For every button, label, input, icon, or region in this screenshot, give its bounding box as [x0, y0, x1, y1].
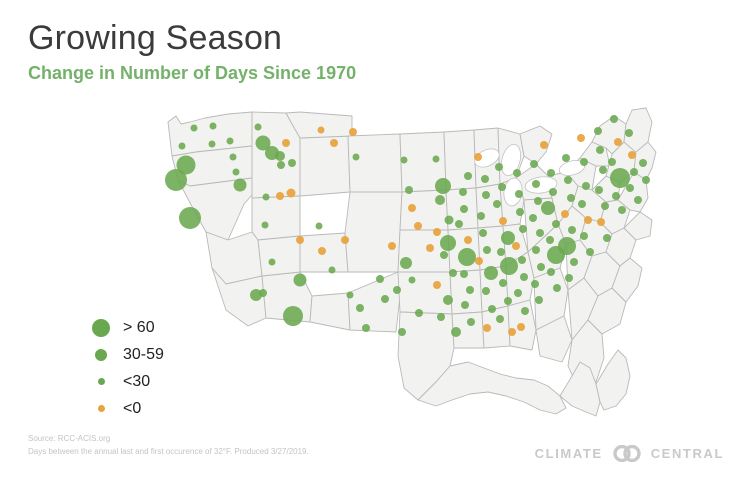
- station-dot: [626, 184, 634, 192]
- station-dot: [520, 273, 528, 281]
- station-dot: [599, 166, 607, 174]
- legend: > 60 30-59 <30 <0: [84, 314, 224, 422]
- station-dot: [541, 201, 555, 215]
- station-dot: [612, 192, 620, 200]
- station-dot: [500, 257, 518, 275]
- station-dot: [531, 280, 539, 288]
- logo-word-climate: CLIMATE: [535, 446, 603, 461]
- station-dot: [596, 146, 604, 154]
- station-dot: [449, 269, 457, 277]
- station-dot: [547, 268, 555, 276]
- station-dot: [376, 275, 384, 283]
- station-dot: [294, 274, 307, 287]
- legend-item: > 60: [84, 314, 224, 341]
- station-dot: [495, 163, 503, 171]
- station-dot: [433, 156, 440, 163]
- legend-label-30-59: 30-59: [118, 346, 164, 364]
- station-dot: [547, 169, 555, 177]
- station-dot: [405, 186, 413, 194]
- station-dot: [179, 207, 201, 229]
- station-dot: [458, 248, 476, 266]
- logo-word-central: CENTRAL: [651, 446, 724, 461]
- station-dot: [445, 216, 454, 225]
- station-dot: [433, 281, 441, 289]
- station-dot: [464, 236, 472, 244]
- station-dot: [568, 226, 576, 234]
- station-dot: [165, 169, 187, 191]
- station-dot: [209, 141, 216, 148]
- station-dot: [263, 194, 270, 201]
- station-dot: [230, 154, 237, 161]
- station-dot: [561, 210, 569, 218]
- climate-central-logo: CLIMATE CENTRAL: [535, 443, 724, 463]
- station-dot: [529, 214, 537, 222]
- legend-label-over-60: > 60: [118, 319, 155, 337]
- station-dot: [408, 204, 416, 212]
- station-dot: [435, 195, 445, 205]
- station-dot: [532, 246, 540, 254]
- station-dot: [530, 160, 538, 168]
- station-dot: [259, 289, 267, 297]
- station-dot: [234, 179, 247, 192]
- station-dot: [262, 222, 269, 229]
- station-dot: [353, 154, 360, 161]
- station-dot: [610, 168, 630, 188]
- station-dot: [349, 128, 357, 136]
- station-dot: [474, 153, 482, 161]
- station-dot: [282, 139, 290, 147]
- state-outlines: [168, 108, 656, 416]
- station-dot: [508, 328, 516, 336]
- station-dot: [318, 127, 325, 134]
- station-dot: [553, 284, 561, 292]
- station-dot: [483, 246, 491, 254]
- station-dot: [618, 206, 626, 214]
- interlocking-circles-icon: [610, 445, 644, 462]
- station-dot: [276, 192, 284, 200]
- station-dot: [513, 169, 521, 177]
- station-dot: [296, 236, 304, 244]
- station-dot: [499, 217, 507, 225]
- station-dot: [498, 183, 506, 191]
- page-subtitle: Change in Number of Days Since 1970: [28, 61, 628, 85]
- station-dot: [210, 123, 217, 130]
- station-dot: [536, 229, 544, 237]
- station-dot: [288, 159, 296, 167]
- station-dot: [512, 242, 520, 250]
- station-dot: [316, 223, 323, 230]
- station-dot: [464, 172, 472, 180]
- station-dot: [347, 292, 354, 299]
- station-dot: [433, 228, 441, 236]
- station-dot: [443, 295, 453, 305]
- station-dot: [504, 297, 512, 305]
- station-dot: [534, 197, 542, 205]
- station-dot: [393, 286, 401, 294]
- station-dot: [398, 328, 406, 336]
- station-dot: [570, 258, 578, 266]
- station-dot: [437, 313, 445, 321]
- station-dot: [521, 307, 529, 315]
- station-dot: [179, 143, 186, 150]
- station-dot: [518, 256, 526, 264]
- station-dot: [440, 251, 448, 259]
- station-dot: [499, 279, 507, 287]
- footer: Source: RCC-ACIS.org Days between the an…: [28, 432, 448, 458]
- station-dot: [584, 216, 592, 224]
- station-dot: [475, 257, 483, 265]
- station-dot: [501, 231, 515, 245]
- station-dot: [642, 176, 650, 184]
- station-dot: [546, 236, 554, 244]
- header: Growing Season Change in Number of Days …: [28, 18, 628, 85]
- station-dot: [582, 182, 590, 190]
- station-dot: [466, 286, 474, 294]
- station-dot: [330, 139, 338, 147]
- station-dot: [191, 125, 198, 132]
- station-dot: [362, 324, 370, 332]
- station-dot: [477, 212, 485, 220]
- station-dot: [481, 175, 489, 183]
- station-dot: [484, 266, 498, 280]
- station-dot: [535, 296, 543, 304]
- station-dot: [549, 188, 557, 196]
- station-dot: [467, 318, 475, 326]
- station-dot: [440, 235, 456, 251]
- legend-label-under-0: <0: [118, 400, 141, 418]
- legend-item: <0: [84, 395, 224, 422]
- station-dot: [455, 220, 463, 228]
- station-dot: [460, 205, 468, 213]
- station-dot: [552, 220, 560, 228]
- station-dot: [578, 200, 586, 208]
- station-dot: [532, 180, 540, 188]
- station-dot: [415, 309, 423, 317]
- footer-note: Days between the annual last and first o…: [28, 445, 448, 458]
- station-dot: [356, 304, 364, 312]
- station-dot: [514, 289, 522, 297]
- station-dot: [517, 323, 525, 331]
- station-dot: [409, 277, 416, 284]
- station-dot: [567, 194, 575, 202]
- station-dot: [329, 267, 336, 274]
- station-dot: [519, 225, 527, 233]
- station-dot: [400, 257, 412, 269]
- station-dot: [625, 129, 633, 137]
- station-dot: [269, 259, 276, 266]
- station-dot: [479, 229, 487, 237]
- station-dot: [388, 242, 396, 250]
- station-dot: [594, 127, 602, 135]
- station-dot: [565, 274, 573, 282]
- page-title: Growing Season: [28, 18, 628, 58]
- station-dot: [451, 327, 461, 337]
- station-dot: [540, 141, 548, 149]
- station-dot: [483, 324, 491, 332]
- station-dot: [558, 237, 576, 255]
- station-dot: [639, 159, 647, 167]
- station-dot: [401, 157, 408, 164]
- station-dot: [515, 190, 523, 198]
- station-dot: [426, 244, 434, 252]
- footer-source: Source: RCC-ACIS.org: [28, 432, 448, 445]
- station-dot: [597, 218, 605, 226]
- legend-dot-medium-green: [84, 349, 118, 361]
- legend-item: 30-59: [84, 341, 224, 368]
- station-dot: [318, 247, 326, 255]
- station-dot: [614, 138, 622, 146]
- station-dot: [577, 134, 585, 142]
- station-dot: [227, 138, 234, 145]
- station-dot: [283, 306, 303, 326]
- station-dot: [459, 188, 467, 196]
- station-dot: [608, 158, 616, 166]
- station-dot: [482, 191, 490, 199]
- station-dot: [595, 186, 603, 194]
- station-dot: [482, 287, 490, 295]
- legend-dot-small-green: [84, 378, 118, 385]
- legend-item: <30: [84, 368, 224, 395]
- station-dot: [562, 154, 570, 162]
- station-dot: [460, 270, 468, 278]
- station-dot: [603, 234, 611, 242]
- station-dot: [580, 158, 588, 166]
- station-dot: [634, 196, 642, 204]
- station-dot: [414, 222, 422, 230]
- station-dot: [287, 189, 296, 198]
- legend-dot-large-green: [84, 319, 118, 337]
- station-dot: [488, 305, 496, 313]
- station-dot: [381, 295, 389, 303]
- station-dot: [610, 115, 618, 123]
- station-dot: [435, 178, 451, 194]
- legend-label-under-30: <30: [118, 373, 150, 391]
- station-dot: [497, 248, 505, 256]
- station-dot: [496, 315, 504, 323]
- station-dot: [564, 176, 572, 184]
- station-dot: [537, 263, 545, 271]
- station-dot: [601, 202, 609, 210]
- station-dot: [580, 232, 588, 240]
- station-dot: [233, 169, 240, 176]
- station-dot: [493, 200, 501, 208]
- station-dot: [630, 168, 638, 176]
- legend-dot-small-orange: [84, 405, 118, 412]
- station-dot: [586, 248, 594, 256]
- station-dot: [341, 236, 349, 244]
- station-dot: [277, 161, 285, 169]
- station-dot: [255, 124, 262, 131]
- station-dot: [461, 301, 469, 309]
- station-dot: [628, 151, 636, 159]
- station-dot: [516, 208, 524, 216]
- station-dot: [275, 151, 285, 161]
